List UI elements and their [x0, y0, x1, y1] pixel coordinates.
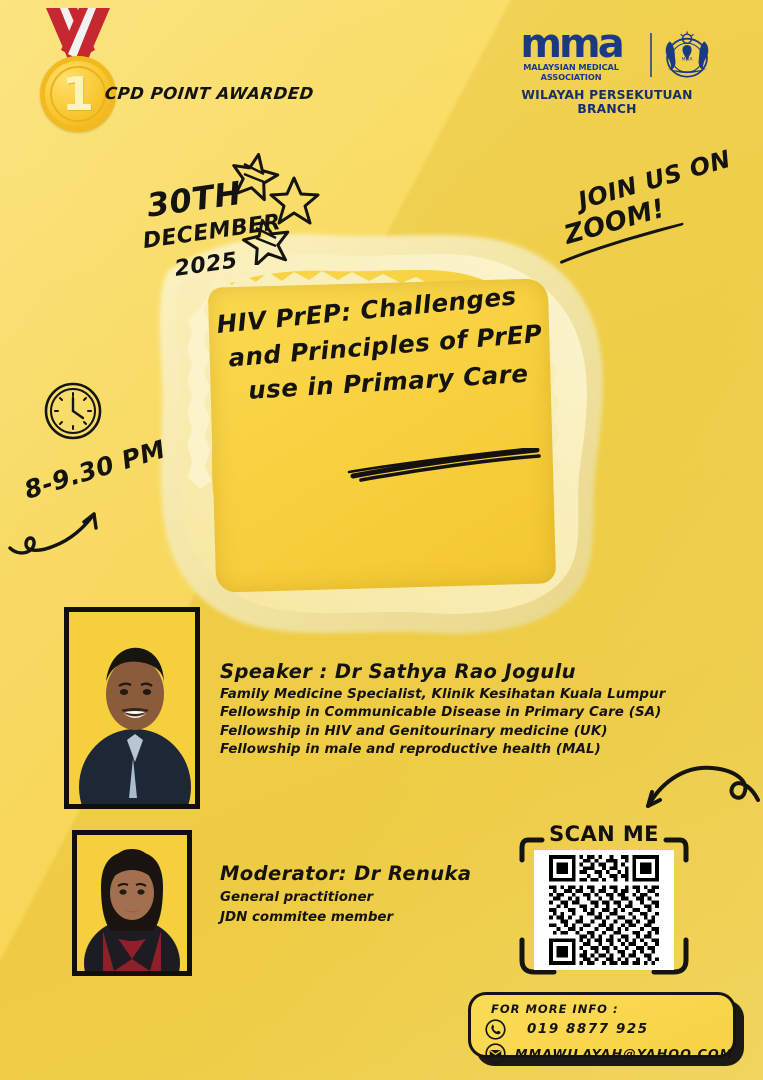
qr-code-icon[interactable] [534, 850, 674, 970]
contact-phone-row[interactable]: 019 8877 925 [485, 1019, 721, 1040]
moderator-heading: Moderator: Dr Renuka [220, 862, 550, 885]
speaker-heading: Speaker : Dr Sathya Rao Jogulu [220, 660, 690, 683]
mma-logo: mma MALAYSIAN MEDICAL ASSOCIATION MMA [499, 28, 715, 116]
malaysian-crest-icon: MMA [659, 28, 715, 82]
speaker-photo [64, 607, 200, 809]
contact-heading: FOR MORE INFO : [491, 1002, 721, 1016]
moderator-portrait [77, 835, 187, 971]
mma-branch-label: WILAYAH PERSEKUTUAN BRANCH [499, 88, 715, 116]
svg-text:MMA: MMA [682, 56, 694, 62]
speaker-credential: Fellowship in Communicable Disease in Pr… [220, 705, 690, 720]
event-title: HIV PrEP: Challenges and Principles of P… [212, 296, 572, 394]
cpd-point-label: CPD POINT AWARDED [104, 84, 315, 103]
moderator-credential: General practitioner [220, 890, 550, 905]
join-platform: JOIN US ON ZOOM! [575, 160, 763, 222]
speaker-credential: Family Medicine Specialist, Klinik Kesih… [220, 687, 690, 702]
event-time: 8-9.30 PM [21, 434, 169, 504]
logo-divider [650, 33, 652, 77]
speaker-credential: Fellowship in male and reproductive heal… [220, 742, 690, 757]
envelope-icon [485, 1043, 506, 1064]
speaker-portrait [69, 612, 195, 804]
contact-phone: 019 8877 925 [527, 1022, 649, 1037]
curved-arrow-icon [8, 500, 123, 556]
contact-email-row[interactable]: MMAWILAYAH@YAHOO.COM [485, 1043, 721, 1064]
contact-box: FOR MORE INFO : 019 8877 925 MMAWILAYAH@… [468, 992, 736, 1058]
speaker-credential: Fellowship in HIV and Genitourinary medi… [220, 724, 690, 739]
whatsapp-icon [485, 1019, 506, 1040]
cpd-medal: 1 [22, 8, 134, 128]
speaker-info: Speaker : Dr Sathya Rao Jogulu Family Me… [220, 660, 690, 757]
moderator-photo [72, 830, 192, 976]
title-underline-doodle [347, 448, 542, 482]
contact-email: MMAWILAYAH@YAHOO.COM [515, 1046, 733, 1061]
mma-wordmark: mma [499, 28, 643, 61]
moderator-credential: JDN commitee member [220, 910, 550, 925]
scan-me-label: SCAN ME [518, 822, 690, 846]
star-doodles-icon [232, 150, 322, 265]
poster-canvas: 1 CPD POINT AWARDED mma MALAYSIAN MEDICA… [0, 0, 763, 1080]
qr-section[interactable]: SCAN ME [518, 820, 690, 980]
clock-icon [42, 380, 104, 442]
moderator-info: Moderator: Dr Renuka General practitione… [220, 862, 550, 925]
